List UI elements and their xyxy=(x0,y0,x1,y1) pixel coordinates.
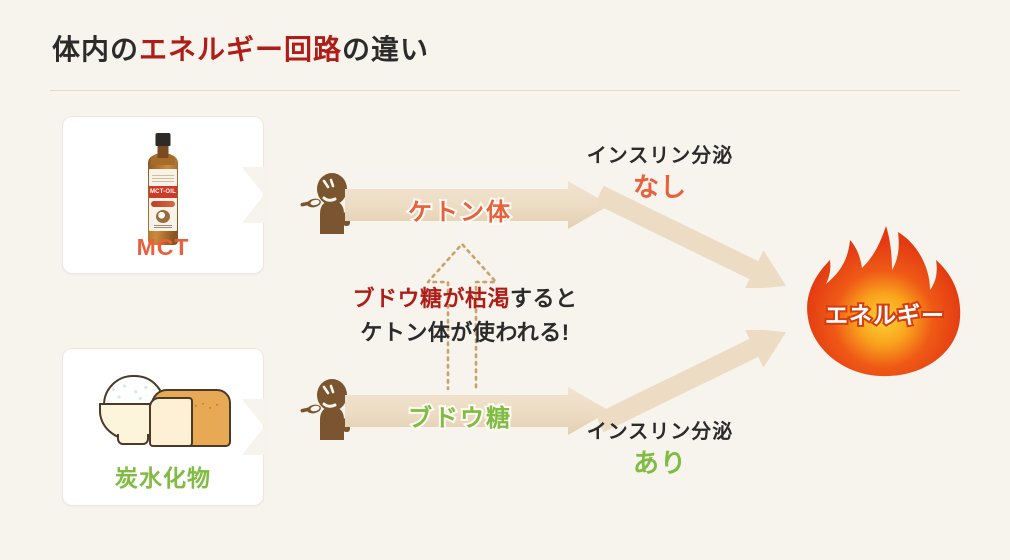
source-card-mct-label: MCT xyxy=(63,234,263,261)
insulin-status-ketone: インスリン分泌 なし xyxy=(560,142,760,204)
center-caption-line1-rest: すると xyxy=(510,286,578,311)
insulin-status-glucose-value: あり xyxy=(560,446,760,480)
source-card-mct: MCT-OIL MCT xyxy=(62,116,264,274)
mct-oil-bottle-icon: MCT-OIL xyxy=(145,133,181,245)
energy-label: エネルギー xyxy=(800,296,970,330)
title-divider xyxy=(50,90,960,91)
page-title: 体内のエネルギー回路の違い xyxy=(52,28,429,68)
rice-bowl-and-bread-icon xyxy=(93,367,233,463)
center-caption-line2: ケトン体が使われる! xyxy=(330,316,600,350)
center-caption: ブドウ糖が枯渇すると ケトン体が使われる! xyxy=(330,282,600,350)
bottle-label-text: MCT-OIL xyxy=(149,186,177,198)
flow-arrow-ketone-label: ケトン体 xyxy=(408,192,512,227)
infographic-canvas: 体内のエネルギー回路の違い MCT-OIL MCT xyxy=(0,0,1010,560)
page-title-prefix: 体内の xyxy=(52,34,139,65)
insulin-status-glucose-heading: インスリン分泌 xyxy=(560,418,760,446)
flow-arrow-glucose-label: ブドウ糖 xyxy=(408,398,512,433)
source-card-carbohydrate-label: 炭水化物 xyxy=(63,459,263,493)
card-notch-carbohydrate xyxy=(242,399,264,455)
insulin-status-glucose: インスリン分泌 あり xyxy=(560,418,760,480)
insulin-status-ketone-heading: インスリン分泌 xyxy=(560,142,760,170)
card-notch-mct xyxy=(242,167,264,223)
page-title-accent: エネルギー回路 xyxy=(139,34,342,65)
insulin-status-ketone-value: なし xyxy=(560,170,760,204)
source-card-carbohydrate: 炭水化物 xyxy=(62,348,264,506)
center-caption-line1: ブドウ糖が枯渇すると xyxy=(330,282,600,316)
page-title-suffix: の違い xyxy=(342,34,429,65)
center-caption-accent: ブドウ糖が枯渇 xyxy=(352,286,510,311)
